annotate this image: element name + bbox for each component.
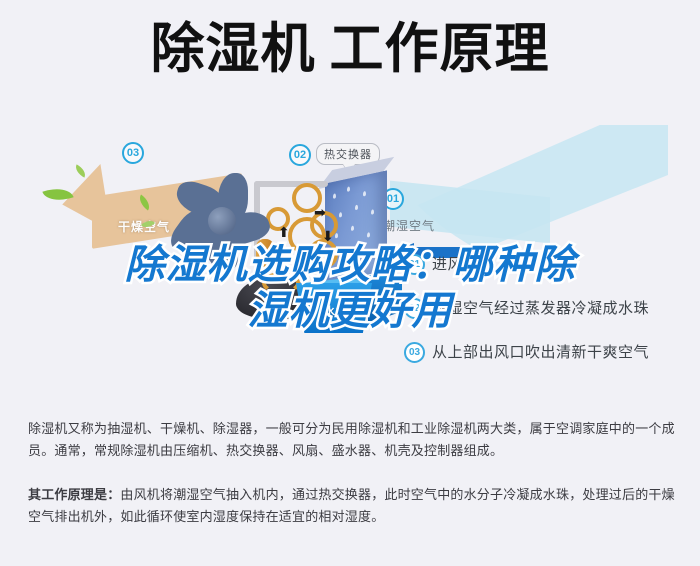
- step-text: 从上部出风口吹出清新干爽空气: [432, 341, 649, 362]
- step-number: 01: [404, 254, 425, 275]
- body-paragraph-2-lead: 其工作原理是：: [28, 487, 120, 502]
- step-number: 03: [404, 342, 425, 363]
- step-item: 01 进风口: [404, 251, 694, 295]
- body-paragraph-1: 除湿机又称为抽湿机、干燥机、除湿器，一般可分为民用除湿机和工业除湿机两大类，属于…: [28, 418, 676, 462]
- body-paragraph-2: 其工作原理是：由风机将潮湿空气抽入机内，通过热交换器，此时空气中的水分子冷凝成水…: [28, 484, 676, 528]
- humid-air-label: 潮湿空气: [383, 217, 435, 234]
- fan-hub: [208, 207, 236, 235]
- fan-icon: [168, 165, 280, 277]
- step-text: 进风口: [432, 253, 479, 274]
- step-list: 01 进风口 02 潮湿空气经过蒸发器冷凝成水珠 03 从上部出风口吹出清新干爽…: [404, 251, 694, 383]
- step-item: 03 从上部出风口吹出清新干爽空气: [404, 339, 694, 383]
- infographic-page: 除湿机工作原理 01 潮湿空气 03 干燥空气 02 热交换器: [0, 0, 700, 566]
- body-paragraph-2-rest: 由风机将潮湿空气抽入机内，通过热交换器，此时空气中的水分子冷凝成水珠，处理过后的…: [28, 487, 675, 524]
- water-tank: 水箱: [296, 273, 406, 335]
- page-title-part1: 除湿机: [151, 22, 316, 76]
- page-title-part2: 工作原理: [330, 22, 550, 76]
- page-title: 除湿机工作原理: [0, 22, 700, 76]
- step-text: 潮湿空气经过蒸发器冷凝成水珠: [432, 297, 649, 318]
- step-item: 02 潮湿空气经过蒸发器冷凝成水珠: [404, 295, 694, 339]
- dehumidifier-diagram: 01 潮湿空气 03 干燥空气 02 热交换器: [0, 125, 700, 407]
- badge-02-diagram: 02: [289, 144, 311, 166]
- step-number: 02: [404, 298, 425, 319]
- article-body: 除湿机又称为抽湿机、干燥机、除湿器，一般可分为民用除湿机和工业除湿机两大类，属于…: [28, 418, 676, 536]
- badge-03-diagram: 03: [122, 142, 144, 164]
- water-tank-label: 水箱: [324, 303, 348, 319]
